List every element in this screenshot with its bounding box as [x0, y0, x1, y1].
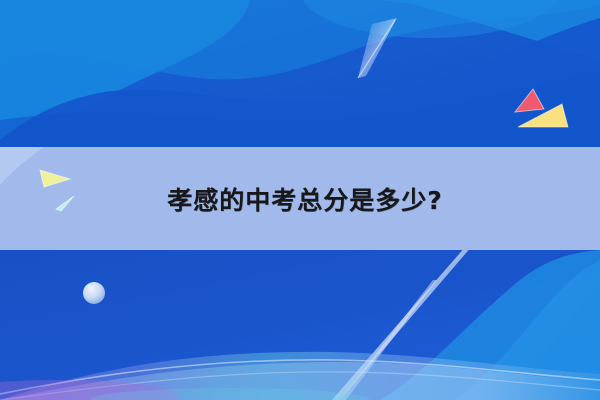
bottom-glow-graphic — [0, 250, 600, 400]
top-wave-band — [0, 0, 600, 147]
page-title: 孝感的中考总分是多少? — [0, 147, 600, 250]
title-band: 孝感的中考总分是多少? — [0, 147, 600, 250]
bottom-glow-band — [0, 250, 600, 400]
banner-image: 孝感的中考总分是多少? — [0, 0, 600, 400]
light-sphere-shape — [83, 282, 105, 304]
top-wave-graphic — [0, 0, 600, 147]
